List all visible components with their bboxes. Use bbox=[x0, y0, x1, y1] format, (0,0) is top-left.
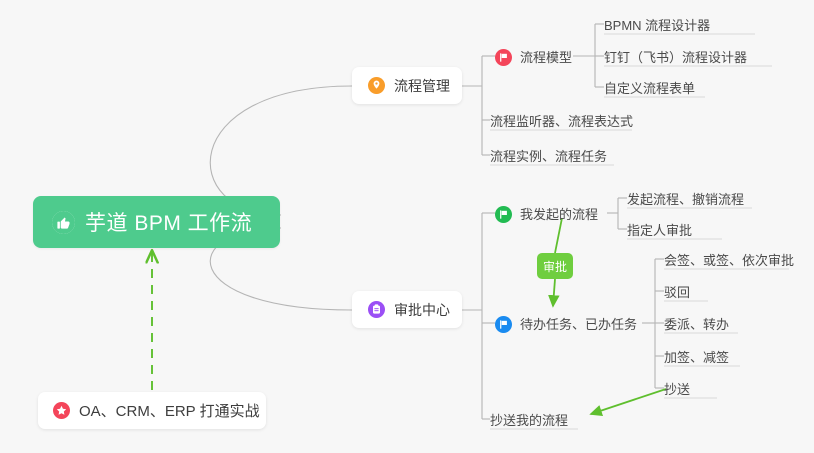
root-label: 芋道 BPM 工作流 bbox=[85, 207, 252, 237]
node-delegate-transfer[interactable]: 委派、转办 bbox=[664, 312, 729, 336]
node-cc-to-me-processes[interactable]: 抄送我的流程 bbox=[490, 408, 568, 432]
node-dingtalk-feishu-designer[interactable]: 钉钉（飞书）流程设计器 bbox=[604, 45, 747, 69]
node-label-my-started-processes: 我发起的流程 bbox=[520, 208, 598, 221]
star-icon bbox=[53, 402, 70, 419]
note-card-label: OA、CRM、ERP 打通实战 bbox=[79, 400, 260, 421]
node-label-dingtalk-feishu-designer: 钉钉（飞书）流程设计器 bbox=[604, 51, 747, 64]
node-custom-process-form[interactable]: 自定义流程表单 bbox=[604, 76, 695, 100]
node-countersign-orsign-sequential[interactable]: 会签、或签、依次审批 bbox=[664, 248, 794, 272]
branch-label-process-management: 流程管理 bbox=[394, 76, 450, 96]
thumbs-up-icon bbox=[52, 211, 75, 234]
branch-label-approval-center: 审批中心 bbox=[394, 300, 450, 320]
node-label-countersign-orsign-sequential: 会签、或签、依次审批 bbox=[664, 254, 794, 267]
node-process-instance-task[interactable]: 流程实例、流程任务 bbox=[490, 144, 607, 168]
node-label-process-model: 流程模型 bbox=[520, 51, 572, 64]
node-label-todo-done-tasks: 待办任务、已办任务 bbox=[520, 318, 637, 331]
clipboard-icon bbox=[368, 301, 385, 318]
node-todo-done-tasks[interactable]: 待办任务、已办任务 bbox=[495, 312, 637, 336]
approval-badge-label: 审批 bbox=[543, 258, 567, 275]
node-my-started-processes[interactable]: 我发起的流程 bbox=[495, 202, 598, 226]
cc-flow-arrow bbox=[591, 389, 666, 414]
flag-icon bbox=[495, 49, 512, 66]
node-label-custom-process-form: 自定义流程表单 bbox=[604, 82, 695, 95]
node-label-cc-to-me-processes: 抄送我的流程 bbox=[490, 414, 568, 427]
flag-icon bbox=[495, 316, 512, 333]
note-card-oa-crm-erp[interactable]: OA、CRM、ERP 打通实战 bbox=[38, 392, 266, 429]
node-label-reject: 驳回 bbox=[664, 286, 690, 299]
approval-badge: 审批 bbox=[537, 253, 573, 279]
node-label-start-cancel-process: 发起流程、撤销流程 bbox=[627, 193, 744, 206]
node-label-add-remove-sign: 加签、减签 bbox=[664, 351, 729, 364]
node-label-cc: 抄送 bbox=[664, 383, 690, 396]
branch-node-approval-center[interactable]: 审批中心 bbox=[352, 291, 462, 328]
node-add-remove-sign[interactable]: 加签、减签 bbox=[664, 345, 729, 369]
node-label-delegate-transfer: 委派、转办 bbox=[664, 318, 729, 331]
location-pin-icon bbox=[368, 77, 385, 94]
node-reject[interactable]: 驳回 bbox=[664, 280, 690, 304]
node-cc[interactable]: 抄送 bbox=[664, 377, 690, 401]
node-process-model[interactable]: 流程模型 bbox=[495, 45, 572, 69]
node-label-process-listener-expression: 流程监听器、流程表达式 bbox=[490, 115, 633, 128]
node-label-bpmn-designer: BPMN 流程设计器 bbox=[604, 19, 710, 32]
branch-node-process-management[interactable]: 流程管理 bbox=[352, 67, 462, 104]
flag-icon bbox=[495, 206, 512, 223]
mindmap-canvas: 芋道 BPM 工作流 流程管理 流程模型 BPMN 流程设计器 钉钉（飞书）流程… bbox=[0, 0, 814, 453]
node-bpmn-designer[interactable]: BPMN 流程设计器 bbox=[604, 13, 710, 37]
node-start-cancel-process[interactable]: 发起流程、撤销流程 bbox=[627, 187, 744, 211]
node-assignee-approval[interactable]: 指定人审批 bbox=[627, 218, 692, 242]
node-label-assignee-approval: 指定人审批 bbox=[627, 224, 692, 237]
node-process-listener-expression[interactable]: 流程监听器、流程表达式 bbox=[490, 109, 633, 133]
root-node[interactable]: 芋道 BPM 工作流 bbox=[33, 196, 280, 248]
node-label-process-instance-task: 流程实例、流程任务 bbox=[490, 150, 607, 163]
